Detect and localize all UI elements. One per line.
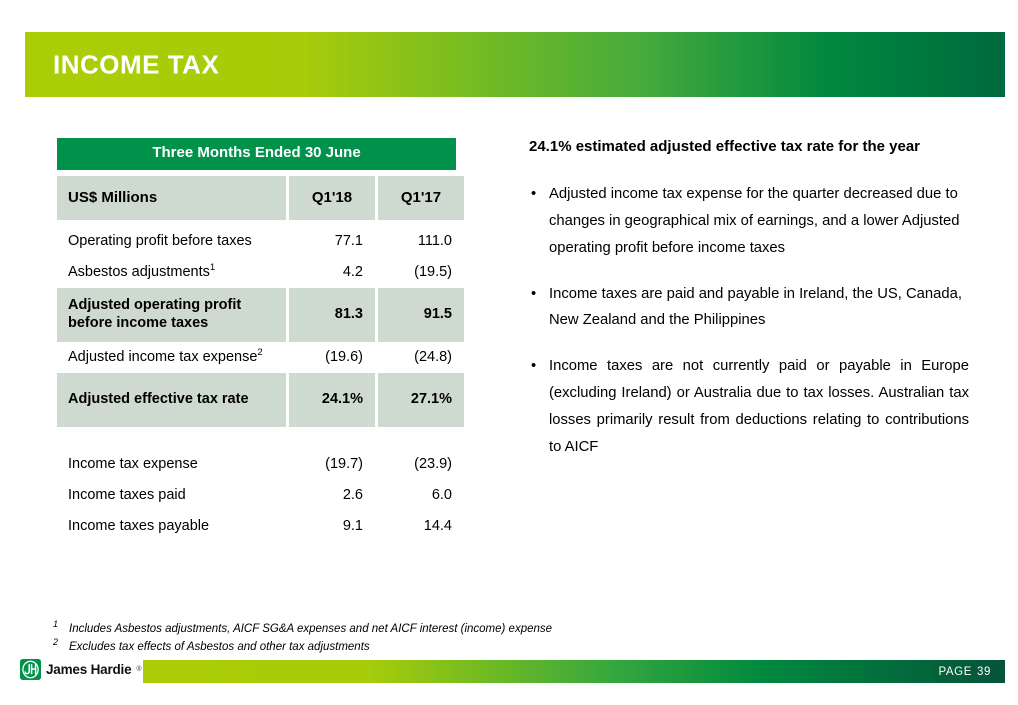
list-item-text: Income taxes are paid and payable in Ire… [549, 286, 962, 329]
row-value-q1-17: 27.1% [378, 373, 464, 427]
table-row: Adjusted operating profit before income … [57, 288, 464, 342]
bullet-icon: • [531, 353, 536, 380]
row-value-q1-18: 77.1 [289, 226, 375, 257]
row-label: Income taxes paid [57, 480, 286, 511]
row-value-q1-17: (19.5) [378, 257, 464, 288]
row-value-q1-17: 91.5 [378, 288, 464, 342]
list-item: • Income taxes are paid and payable in I… [529, 281, 969, 335]
income-tax-table: US$ Millions Q1'18 Q1'17 Operating profi… [54, 170, 467, 542]
row-label: Adjusted operating profit before income … [57, 288, 286, 342]
table-section-gap [57, 427, 464, 449]
row-value-q1-18: 9.1 [289, 511, 375, 542]
bullet-icon: • [531, 281, 536, 308]
page-indicator: PAGE39 [938, 666, 991, 678]
footnote-text: Includes Asbestos adjustments, AICF SG&A… [69, 623, 552, 635]
narrative-headline: 24.1% estimated adjusted effective tax r… [529, 133, 969, 161]
footnote-1: 1Includes Asbestos adjustments, AICF SG&… [53, 621, 753, 639]
table-header-row: US$ Millions Q1'18 Q1'17 [57, 176, 464, 220]
brand-logo: James Hardie® [20, 659, 142, 680]
brand-name: James Hardie [46, 662, 131, 677]
row-label: Asbestos adjustments1 [57, 257, 286, 288]
row-value-q1-18: (19.7) [289, 449, 375, 480]
page-number: 39 [977, 666, 991, 678]
footnotes: 1Includes Asbestos adjustments, AICF SG&… [53, 621, 753, 657]
footnote-text: Excludes tax effects of Asbestos and oth… [69, 641, 370, 653]
narrative-panel: 24.1% estimated adjusted effective tax r… [529, 133, 969, 480]
table-row: Adjusted effective tax rate 24.1% 27.1% [57, 373, 464, 427]
slide-title-bar: INCOME TAX [25, 32, 1005, 97]
row-label: Adjusted effective tax rate [57, 373, 286, 427]
row-label: Operating profit before taxes [57, 226, 286, 257]
table-row: Income taxes payable 9.1 14.4 [57, 511, 464, 542]
narrative-bullet-list: • Adjusted income tax expense for the qu… [529, 181, 969, 461]
table-row: Operating profit before taxes 77.1 111.0 [57, 226, 464, 257]
row-value-q1-18: 24.1% [289, 373, 375, 427]
column-header-q1-17: Q1'17 [378, 176, 464, 220]
bullet-icon: • [531, 181, 536, 208]
row-value-q1-17: 6.0 [378, 480, 464, 511]
row-value-q1-18: 4.2 [289, 257, 375, 288]
row-label: Income tax expense [57, 449, 286, 480]
column-header-q1-18: Q1'18 [289, 176, 375, 220]
financial-table-panel: Three Months Ended 30 June US$ Millions … [57, 138, 456, 542]
row-value-q1-17: 111.0 [378, 226, 464, 257]
list-item: • Adjusted income tax expense for the qu… [529, 181, 969, 262]
row-value-q1-17: (24.8) [378, 342, 464, 373]
row-label-text: Adjusted income tax expense [68, 349, 257, 365]
list-item-text: Income taxes are not currently paid or p… [549, 358, 969, 455]
table-row: Adjusted income tax expense2 (19.6) (24.… [57, 342, 464, 373]
footer-gradient-bar: PAGE39 [143, 660, 1005, 683]
table-row: Income tax expense (19.7) (23.9) [57, 449, 464, 480]
row-value-q1-18: 2.6 [289, 480, 375, 511]
list-item: • Income taxes are not currently paid or… [529, 353, 969, 461]
row-footnote-marker: 1 [210, 262, 215, 273]
row-label: Income taxes payable [57, 511, 286, 542]
row-label: Adjusted income tax expense2 [57, 342, 286, 373]
page-title: INCOME TAX [53, 49, 219, 80]
row-value-q1-17: (23.9) [378, 449, 464, 480]
table-caption: Three Months Ended 30 June [57, 138, 456, 170]
james-hardie-monogram-icon [20, 659, 41, 680]
table-row: Asbestos adjustments1 4.2 (19.5) [57, 257, 464, 288]
row-value-q1-18: 81.3 [289, 288, 375, 342]
column-header-units: US$ Millions [57, 176, 286, 220]
row-value-q1-18: (19.6) [289, 342, 375, 373]
list-item-text: Adjusted income tax expense for the quar… [549, 186, 959, 256]
row-label-text: Asbestos adjustments [68, 264, 210, 280]
row-footnote-marker: 2 [257, 347, 262, 358]
footnote-2: 2Excludes tax effects of Asbestos and ot… [53, 639, 753, 657]
page-label: PAGE [938, 666, 972, 678]
row-value-q1-17: 14.4 [378, 511, 464, 542]
table-row: Income taxes paid 2.6 6.0 [57, 480, 464, 511]
trademark-icon: ® [136, 666, 141, 673]
